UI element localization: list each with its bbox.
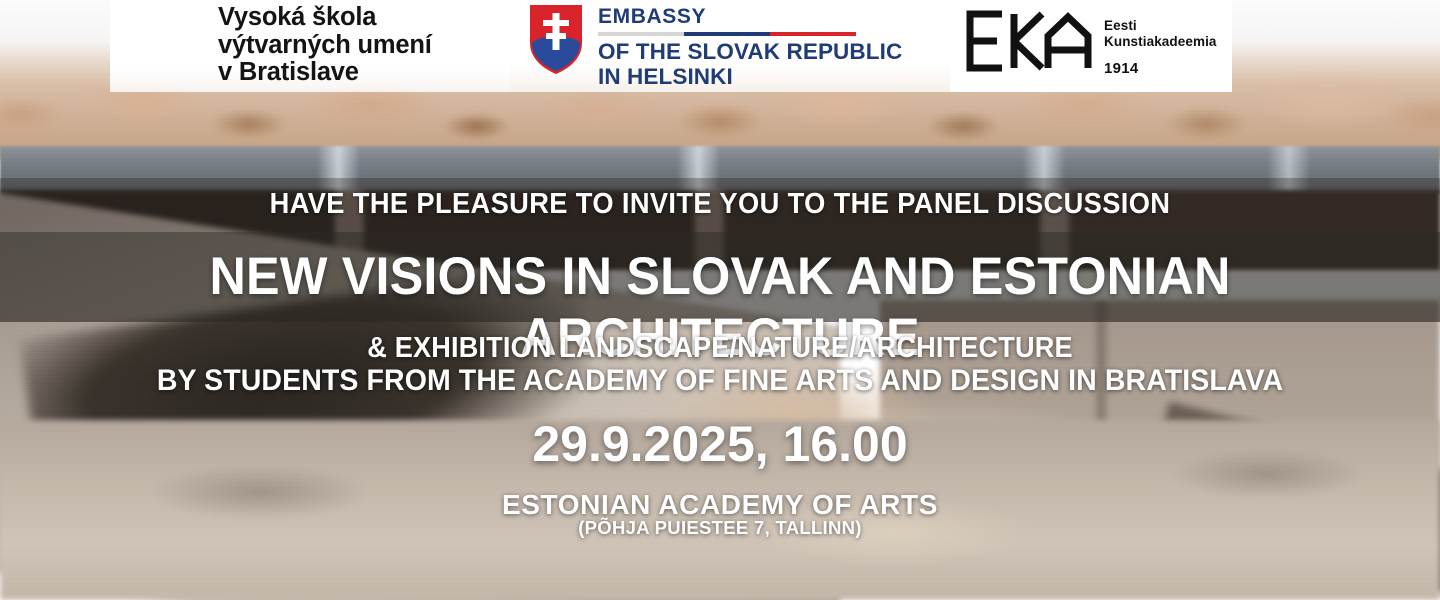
exhibition-line: & EXHIBITION LANDSCAPE/NATURE/ARCHITECTU… — [36, 332, 1404, 365]
embassy-line-2: OF THE SLOVAK REPUBLIC IN HELSINKI — [598, 40, 902, 89]
event-datetime: 29.9.2025, 16.00 — [0, 415, 1440, 473]
invite-kicker: HAVE THE PLEASURE TO INVITE YOU TO THE P… — [43, 188, 1397, 221]
vsvu-wordmark: Vysoká škola výtvarných umení v Bratisla… — [218, 4, 432, 87]
slovak-coat-of-arms-icon — [528, 3, 584, 75]
logo-embassy: EMBASSY OF THE SLOVAK REPUBLIC IN HELSIN… — [510, 0, 950, 92]
eka-year: 1914 — [1104, 60, 1217, 77]
event-address: (PÕHJA PUIESTEE 7, TALLINN) — [0, 517, 1440, 539]
eka-monogram-icon — [964, 10, 1092, 72]
authors-line: BY STUDENTS FROM THE ACADEMY OF FINE ART… — [36, 364, 1404, 398]
embassy-tricolour-rule — [598, 32, 856, 36]
embassy-line-1: EMBASSY — [598, 5, 902, 29]
logo-bar: Vysoká škola výtvarných umení v Bratisla… — [0, 0, 1440, 96]
logo-eka: Eesti Kunstiakadeemia 1914 — [950, 0, 1232, 92]
event-poster: Vysoká škola výtvarných umení v Bratisla… — [0, 0, 1440, 600]
logo-vsvu: Vysoká škola výtvarných umení v Bratisla… — [110, 0, 510, 92]
eka-subtitle: Eesti Kunstiakadeemia — [1104, 10, 1217, 49]
